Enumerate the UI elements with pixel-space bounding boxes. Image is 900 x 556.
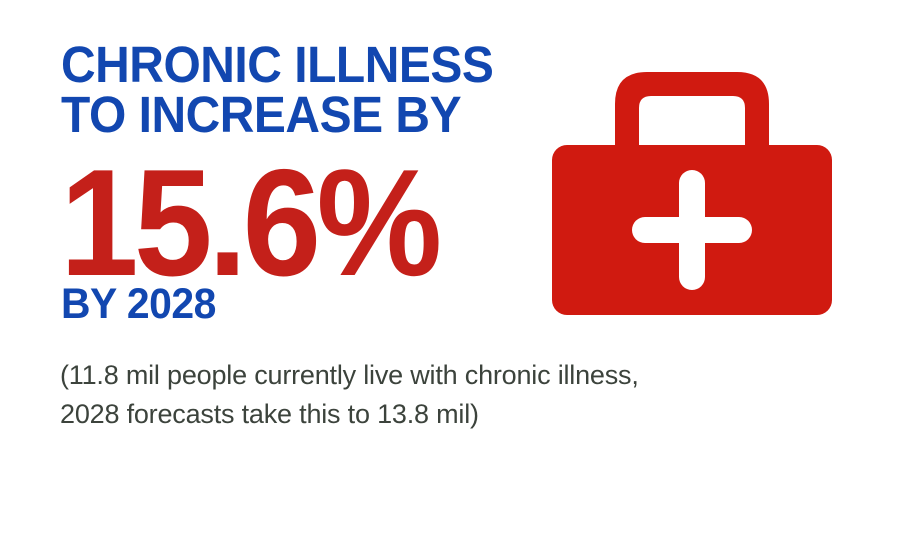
medical-bag-icon <box>536 56 848 328</box>
infographic-canvas: CHRONIC ILLNESS TO INCREASE BY 15.6% BY … <box>0 0 900 556</box>
page-title: CHRONIC ILLNESS TO INCREASE BY <box>61 40 503 140</box>
statistic-timeframe: BY 2028 <box>61 283 216 326</box>
headline-line-1: CHRONIC ILLNESS <box>61 40 503 90</box>
headline-line-2: TO INCREASE BY <box>61 90 503 140</box>
text-column: CHRONIC ILLNESS TO INCREASE BY 15.6% BY … <box>0 0 540 556</box>
note-text: (11.8 mil people currently live with chr… <box>60 356 860 434</box>
note-line-1: (11.8 mil people currently live with chr… <box>60 356 860 395</box>
statistic-value: 15.6% <box>60 147 438 299</box>
note-line-2: 2028 forecasts take this to 13.8 mil) <box>60 395 860 434</box>
